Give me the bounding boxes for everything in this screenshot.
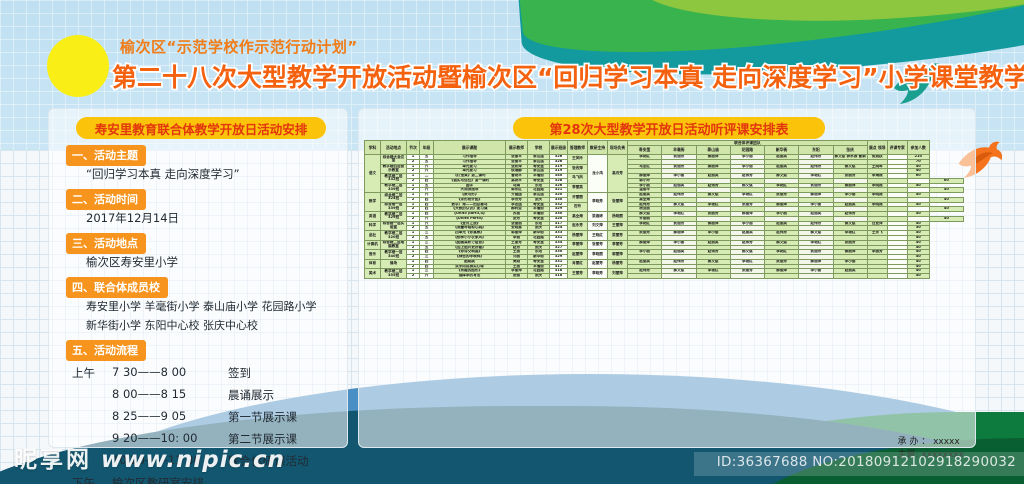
cell-place: 综合楼大会议室 bbox=[381, 155, 407, 165]
cell-subject: 音乐 bbox=[365, 250, 381, 260]
left-section-heading-3: 三、活动地点 bbox=[66, 233, 146, 254]
cell-place: 综合楼二层324班 bbox=[381, 193, 407, 203]
col-header-8: 管理教师 bbox=[568, 141, 588, 155]
cell-host: 龙小鸿 bbox=[588, 155, 608, 193]
watermark-site-cn: 昵享网 bbox=[14, 447, 92, 473]
cell-period: 2 bbox=[407, 274, 420, 279]
cell-place: 综合楼一层实验室 bbox=[381, 221, 407, 231]
schedule-period-label: 下午 bbox=[72, 475, 95, 484]
cell-subject: 科学 bbox=[365, 221, 381, 231]
cell-host: 李晓芳 bbox=[588, 193, 608, 212]
left-panel-title-text: 寿安里教育联合体教学开放日活动安排 bbox=[95, 119, 308, 138]
cell-place: 操场 bbox=[381, 259, 407, 269]
schedule-activity: 第一节展示课 bbox=[228, 409, 297, 425]
cell-duty: 杨晓丽 bbox=[608, 212, 628, 222]
sun-circle-decoration bbox=[47, 35, 109, 97]
watermark-id: ID:36367688 NO:20180912102918290032 bbox=[717, 454, 1016, 470]
cell-place: 教学楼一层340班 bbox=[381, 250, 407, 260]
cell-manager: 肖丽红 bbox=[568, 259, 588, 269]
cell-count: 40 bbox=[907, 274, 929, 279]
cell-subject: 英语 bbox=[365, 212, 381, 222]
left-panel-title-pill: 寿安里教育联合体教学开放日活动安排 bbox=[76, 117, 326, 139]
cell-manager: 李丽萍 bbox=[568, 240, 588, 250]
cell-duty: 杨丽芳 bbox=[608, 259, 628, 269]
left-section-line: 新华街小学 东阳中心校 张庆中心校 bbox=[86, 317, 258, 333]
col-header-0: 学科 bbox=[365, 141, 381, 155]
cell-host: 王晓红 bbox=[588, 231, 608, 241]
schedule-activity: 晨诵展示 bbox=[228, 387, 274, 403]
cell-duty: 王丽萍 bbox=[608, 221, 628, 231]
left-section-heading-5: 五、活动流程 bbox=[66, 340, 146, 361]
cell-team-2 bbox=[696, 274, 730, 279]
schedule-time: 8 25——9 05 bbox=[112, 409, 186, 423]
cell-manager: 李丽英 bbox=[568, 183, 588, 193]
cell-duty: 刘丽萍 bbox=[608, 269, 628, 279]
cell-manager: 高全海 bbox=[568, 212, 588, 222]
cell-place: 教学楼四层智乐教室 bbox=[381, 164, 407, 174]
cell-topic: 抽挥李的写法 bbox=[434, 274, 506, 279]
schedule-time: 7 30——8 00 bbox=[112, 365, 186, 379]
col-header-2: 节次 bbox=[407, 141, 420, 155]
cell-duty: 张丽萍 bbox=[608, 193, 628, 212]
cell-host: 李晓丽 bbox=[588, 250, 608, 260]
header-title-text: 第二十八次大型教学开放活动暨榆次区“回归学习本真 走向深度学习”小学课堂教学改革… bbox=[112, 63, 1024, 92]
col-header-team-4: 新华街 bbox=[765, 146, 799, 155]
col-header-tail-2: 参加人数 bbox=[907, 141, 929, 155]
col-header-10: 现场负责 bbox=[608, 141, 628, 155]
left-section-heading-4: 四、联合体成员校 bbox=[66, 277, 168, 298]
cell-host: 张丽芳 bbox=[588, 240, 608, 250]
left-section-line: 寿安里小学 羊毫街小学 泰山庙小学 花园路小学 bbox=[86, 298, 317, 314]
header-subtitle-text: 榆次区“示范学校作示范行动计划” bbox=[120, 38, 358, 56]
col-header-6: 学校 bbox=[528, 141, 550, 155]
cell-place: 教学楼二层339班 bbox=[381, 183, 407, 193]
poster-canvas: 榆次区“示范学校作示范行动计划” 第二十八次大型教学开放活动暨榆次区“回归学习本… bbox=[0, 0, 1024, 484]
schedule-table-wrapper[interactable]: 学科活动地点节次年级展示课题展示教师学校展示班级管理教师教研主持现场负责联合体评… bbox=[364, 140, 964, 440]
schedule-time: 8 00——8 15 bbox=[112, 387, 186, 401]
cell-place: 教学楼二层329班 bbox=[381, 212, 407, 222]
cell-team-6: 郝文斌 钟水源 曹娟 bbox=[833, 155, 867, 160]
cell-place: 教学楼二层332班 bbox=[381, 174, 407, 184]
cell-subject: 计算机 bbox=[365, 240, 381, 250]
col-header-1: 活动地点 bbox=[381, 141, 407, 155]
cell-place: 综合楼二层电脑教室 bbox=[381, 240, 407, 250]
cell-count: 60 bbox=[929, 178, 963, 183]
cell-manager: 王丽芳 bbox=[568, 269, 588, 279]
cell-manager: 赵永芳 bbox=[568, 221, 588, 231]
cell-manager: 张改萍 bbox=[568, 164, 588, 174]
left-section-heading-1: 一、活动主题 bbox=[66, 145, 146, 166]
col-header-tail-1: 评课专家 bbox=[887, 141, 907, 155]
cell-team-0 bbox=[628, 274, 662, 279]
col-header-4: 展示课题 bbox=[434, 141, 506, 155]
watermark-site: 昵享网 www.nipic.cn bbox=[14, 440, 285, 474]
cell-expert bbox=[887, 274, 907, 279]
cell-subject: 美术 bbox=[365, 269, 381, 279]
right-panel-title-text: 第28次大型教学开放日活动听评课安排表 bbox=[549, 119, 788, 138]
schedule-table-head: 学科活动地点节次年级展示课题展示教师学校展示班级管理教师教研主持现场负责联合体评… bbox=[365, 141, 964, 155]
cell-place: 教学楼二层320班 bbox=[381, 231, 407, 241]
cell-team-5 bbox=[799, 274, 833, 279]
cell-team-1 bbox=[662, 274, 696, 279]
col-header-9: 教研主持 bbox=[588, 141, 608, 155]
cell-count: 40 bbox=[929, 216, 963, 221]
cell-duty: 梁丽芳 bbox=[608, 231, 628, 241]
cell-subject: 体育 bbox=[365, 259, 381, 269]
table-row[interactable]: 2六抽挥李的写法张丽张庆31840 bbox=[365, 274, 964, 279]
cell-manager: 赵丽萍 bbox=[568, 250, 588, 260]
cell-lead bbox=[867, 274, 887, 279]
cell-manager: 马飞凤 bbox=[568, 174, 588, 184]
cell-manager: 许丽丽 bbox=[568, 193, 588, 203]
cell-host: 李晓芳 bbox=[588, 269, 608, 279]
schedule-activity: 签到 bbox=[228, 365, 251, 381]
schedule-table[interactable]: 学科活动地点节次年级展示课题展示教师学校展示班级管理教师教研主持现场负责联合体评… bbox=[364, 140, 964, 279]
cell-team-6 bbox=[833, 274, 867, 279]
schedule-period-label: 上午 bbox=[72, 365, 95, 381]
col-header-team-5: 东阳 bbox=[799, 146, 833, 155]
cell-host: 赵丽芳 bbox=[588, 259, 608, 269]
cell-team-3 bbox=[730, 274, 764, 279]
cell-host: 刘文萍 bbox=[588, 221, 608, 231]
left-section-heading-2: 二、活动时间 bbox=[66, 189, 146, 210]
organizer-line: 承 办 ： xxxxx bbox=[897, 436, 964, 449]
cell-duty: 高月芳 bbox=[608, 155, 628, 193]
cell-subject: 语文 bbox=[365, 155, 381, 193]
col-header-team-6: 张庆 bbox=[833, 146, 867, 155]
cell-subject: 数学 bbox=[365, 193, 381, 212]
cell-team-4 bbox=[765, 274, 799, 279]
cell-count: 40 bbox=[929, 188, 963, 193]
cell-count: 40 bbox=[929, 197, 963, 202]
cell-school: 张庆 bbox=[528, 274, 550, 279]
col-header-5: 展示教师 bbox=[506, 141, 528, 155]
header-subtitle: 榆次区“示范学校作示范行动计划” bbox=[120, 36, 358, 57]
col-header-team-2: 泰山庙 bbox=[696, 146, 730, 155]
col-header-team-1: 羊毫街 bbox=[662, 146, 696, 155]
watermark-site-url: www.nipic.cn bbox=[101, 447, 285, 473]
cell-manager: 石玲 bbox=[568, 202, 588, 212]
left-section-line: 榆次区寿安里小学 bbox=[86, 254, 178, 270]
schedule-table-body[interactable]: 语文综合楼大会议室1五习作指导张丽平泰山庙326王凤玲龙小鸿高月芳李艳红武丽芳郝… bbox=[365, 155, 964, 279]
cell-duty: 郭丽萍 bbox=[608, 250, 628, 260]
col-header-team-0: 寿安里 bbox=[628, 146, 662, 155]
left-section-line: “回归学习本真 走向深度学习” bbox=[86, 166, 240, 182]
col-header-team-3: 花园路 bbox=[730, 146, 764, 155]
cell-count: 40 bbox=[929, 207, 963, 212]
col-header-3: 年级 bbox=[420, 141, 434, 155]
cell-teacher: 张丽 bbox=[506, 274, 528, 279]
right-panel-title-pill: 第28次大型教学开放日活动听评课安排表 bbox=[513, 117, 825, 139]
col-header-tail-0: 展点 领导 bbox=[867, 141, 887, 155]
cell-place: 综合楼一层339班 bbox=[381, 202, 407, 212]
col-header-7: 展示班级 bbox=[550, 141, 568, 155]
cell-duty: 李丽芳 bbox=[608, 240, 628, 250]
cell-manager: 王凤玲 bbox=[568, 155, 588, 165]
schedule-time: 榆次区教研室安排 bbox=[112, 475, 204, 484]
cell-place: 教学楼二层355班 bbox=[381, 269, 407, 279]
cell-grade: 六 bbox=[420, 274, 434, 279]
cell-subject: 品社 bbox=[365, 231, 381, 241]
header-title: 第二十八次大型教学开放活动暨榆次区“回归学习本真 走向深度学习”小学课堂教学改革… bbox=[112, 58, 1024, 94]
cell-manager: 杨丽萍 bbox=[568, 231, 588, 241]
left-section-line: 2017年12月14日 bbox=[86, 210, 179, 226]
cell-classno: 318 bbox=[550, 274, 568, 279]
cell-host: 梁春婷 bbox=[588, 212, 608, 222]
